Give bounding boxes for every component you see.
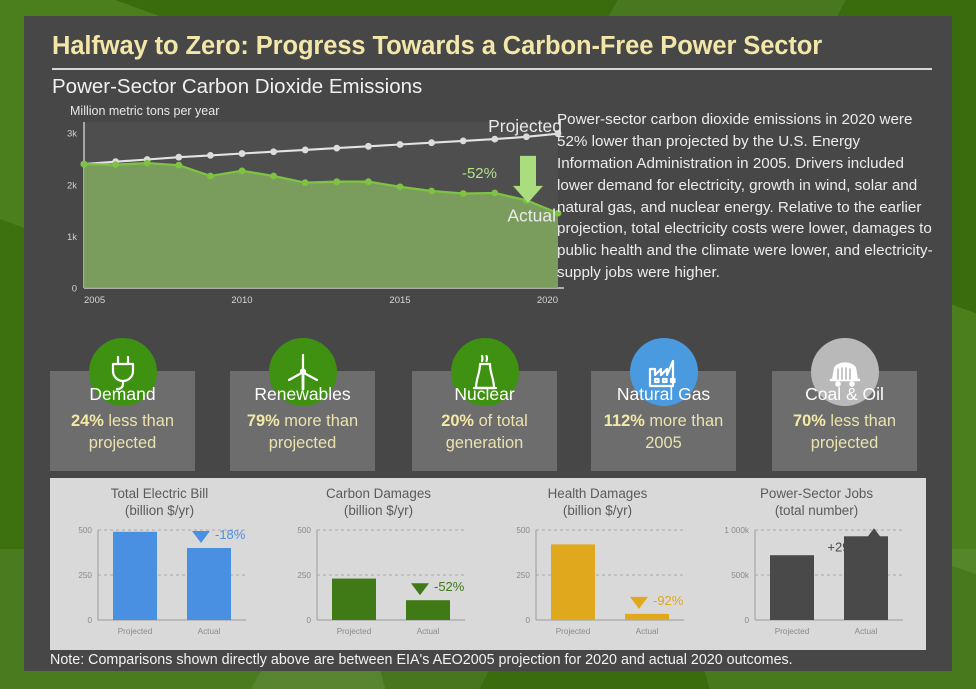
svg-text:250: 250 <box>516 571 530 580</box>
stat-card-value: 112% more than 2005 <box>595 411 732 454</box>
svg-text:500: 500 <box>297 526 311 535</box>
stat-card-name: Nuclear <box>412 384 557 405</box>
summary-paragraph: Power-sector carbon dioxide emissions in… <box>557 109 935 284</box>
content-panel: Halfway to Zero: Progress Towards a Carb… <box>24 16 952 671</box>
line-chart-svg: 01k2k3k2005201020152020ProjectedActual-5… <box>50 118 570 314</box>
svg-text:2k: 2k <box>67 180 77 191</box>
svg-text:Projected: Projected <box>337 627 372 636</box>
svg-text:1 000k: 1 000k <box>724 526 749 535</box>
svg-text:Projected: Projected <box>775 627 810 636</box>
stat-card-percent: 24% <box>71 412 104 430</box>
stat-card-percent: 112% <box>604 412 645 430</box>
svg-text:Projected: Projected <box>118 627 153 636</box>
stat-card-renewables: Renewables79% more than projected <box>230 371 375 471</box>
mini-bar-chart-total-electric-bill: Total Electric Bill(billion $/yr)0250500… <box>50 478 269 650</box>
delta-arrow-icon <box>865 528 883 540</box>
svg-text:Actual: Actual <box>855 627 878 636</box>
delta-label: -92% <box>653 593 684 608</box>
svg-text:Projected: Projected <box>488 118 562 136</box>
svg-text:0: 0 <box>87 616 92 625</box>
mini-chart-title: Power-Sector Jobs(total number) <box>707 486 926 520</box>
footnote: Note: Comparisons shown directly above a… <box>24 648 952 671</box>
svg-text:250: 250 <box>297 571 311 580</box>
svg-text:500k: 500k <box>731 571 750 580</box>
stat-card-coal-oil: Coal & Oil70% less than projected <box>772 371 917 471</box>
delta-label: -52% <box>434 579 465 594</box>
mini-chart-title: Total Electric Bill(billion $/yr) <box>50 486 269 520</box>
mini-chart-title: Health Damages(billion $/yr) <box>488 486 707 520</box>
stat-card-percent: 70% <box>793 412 826 430</box>
y-axis-caption: Million metric tons per year <box>70 104 219 118</box>
comparison-chart-panel: Total Electric Bill(billion $/yr)0250500… <box>50 478 926 650</box>
infographic-frame: Halfway to Zero: Progress Towards a Carb… <box>0 0 976 689</box>
emissions-line-chart: Million metric tons per year 01k2k3k2005… <box>50 104 570 314</box>
stat-card-name: Demand <box>50 384 195 405</box>
stat-card-natural-gas: Natural Gas112% more than 2005 <box>591 371 736 471</box>
mini-bar-chart-power-sector-jobs: Power-Sector Jobs(total number)0500k1 00… <box>707 478 926 650</box>
stat-card-name: Coal & Oil <box>772 384 917 405</box>
mini-chart-subtitle: (billion $/yr) <box>563 503 632 518</box>
mini-bar-chart-health-damages: Health Damages(billion $/yr)0250500Proje… <box>488 478 707 650</box>
stat-card-value: 70% less than projected <box>776 411 913 454</box>
svg-text:2005: 2005 <box>84 295 105 306</box>
delta-arrow-icon <box>630 597 648 609</box>
svg-text:250: 250 <box>78 571 92 580</box>
svg-text:500: 500 <box>78 526 92 535</box>
svg-text:-52%: -52% <box>462 165 497 182</box>
svg-text:Actual: Actual <box>507 205 556 225</box>
delta-label: -18% <box>215 527 246 542</box>
mini-bar-chart-carbon-damages: Carbon Damages(billion $/yr)0250500Proje… <box>269 478 488 650</box>
svg-text:500: 500 <box>516 526 530 535</box>
svg-text:Projected: Projected <box>556 627 591 636</box>
svg-text:2015: 2015 <box>389 295 410 306</box>
svg-text:2010: 2010 <box>231 295 252 306</box>
svg-text:0: 0 <box>72 284 77 295</box>
mini-chart-svg: 0250500ProjectedActual-92% <box>488 522 707 646</box>
stat-card-percent: 20% <box>441 412 474 430</box>
stat-card-value: 24% less than projected <box>54 411 191 454</box>
section-subtitle: Power-Sector Carbon Dioxide Emissions <box>52 75 422 99</box>
mini-chart-svg: 0250500ProjectedActual-18% <box>50 522 269 646</box>
stat-card-nuclear: Nuclear20% of total generation <box>412 371 557 471</box>
delta-arrow-icon <box>192 531 210 543</box>
stat-card-name: Renewables <box>230 384 375 405</box>
delta-arrow-icon <box>411 583 429 595</box>
page-title: Halfway to Zero: Progress Towards a Carb… <box>52 32 932 61</box>
svg-text:1k: 1k <box>67 232 77 243</box>
stat-card-row: Demand24% less than projectedRenewables7… <box>50 349 926 471</box>
delta-label: +29% <box>827 539 861 554</box>
title-divider <box>52 68 932 70</box>
svg-text:3k: 3k <box>67 129 77 140</box>
stat-card-name: Natural Gas <box>591 384 736 405</box>
svg-text:0: 0 <box>744 616 749 625</box>
mini-chart-svg: 0250500ProjectedActual-52% <box>269 522 488 646</box>
stat-card-value: 79% more than projected <box>234 411 371 454</box>
svg-text:2020: 2020 <box>537 295 558 306</box>
svg-text:0: 0 <box>306 616 311 625</box>
mini-chart-subtitle: (total number) <box>775 503 858 518</box>
stat-card-value: 20% of total generation <box>416 411 553 454</box>
svg-text:Actual: Actual <box>636 627 659 636</box>
stat-card-demand: Demand24% less than projected <box>50 371 195 471</box>
mini-chart-subtitle: (billion $/yr) <box>344 503 413 518</box>
mini-chart-svg: 0500k1 000kProjectedActual+29% <box>707 522 926 646</box>
mini-chart-title: Carbon Damages(billion $/yr) <box>269 486 488 520</box>
mini-chart-subtitle: (billion $/yr) <box>125 503 194 518</box>
svg-text:Actual: Actual <box>417 627 440 636</box>
stat-card-percent: 79% <box>247 412 280 430</box>
svg-text:0: 0 <box>525 616 530 625</box>
svg-text:Actual: Actual <box>198 627 221 636</box>
